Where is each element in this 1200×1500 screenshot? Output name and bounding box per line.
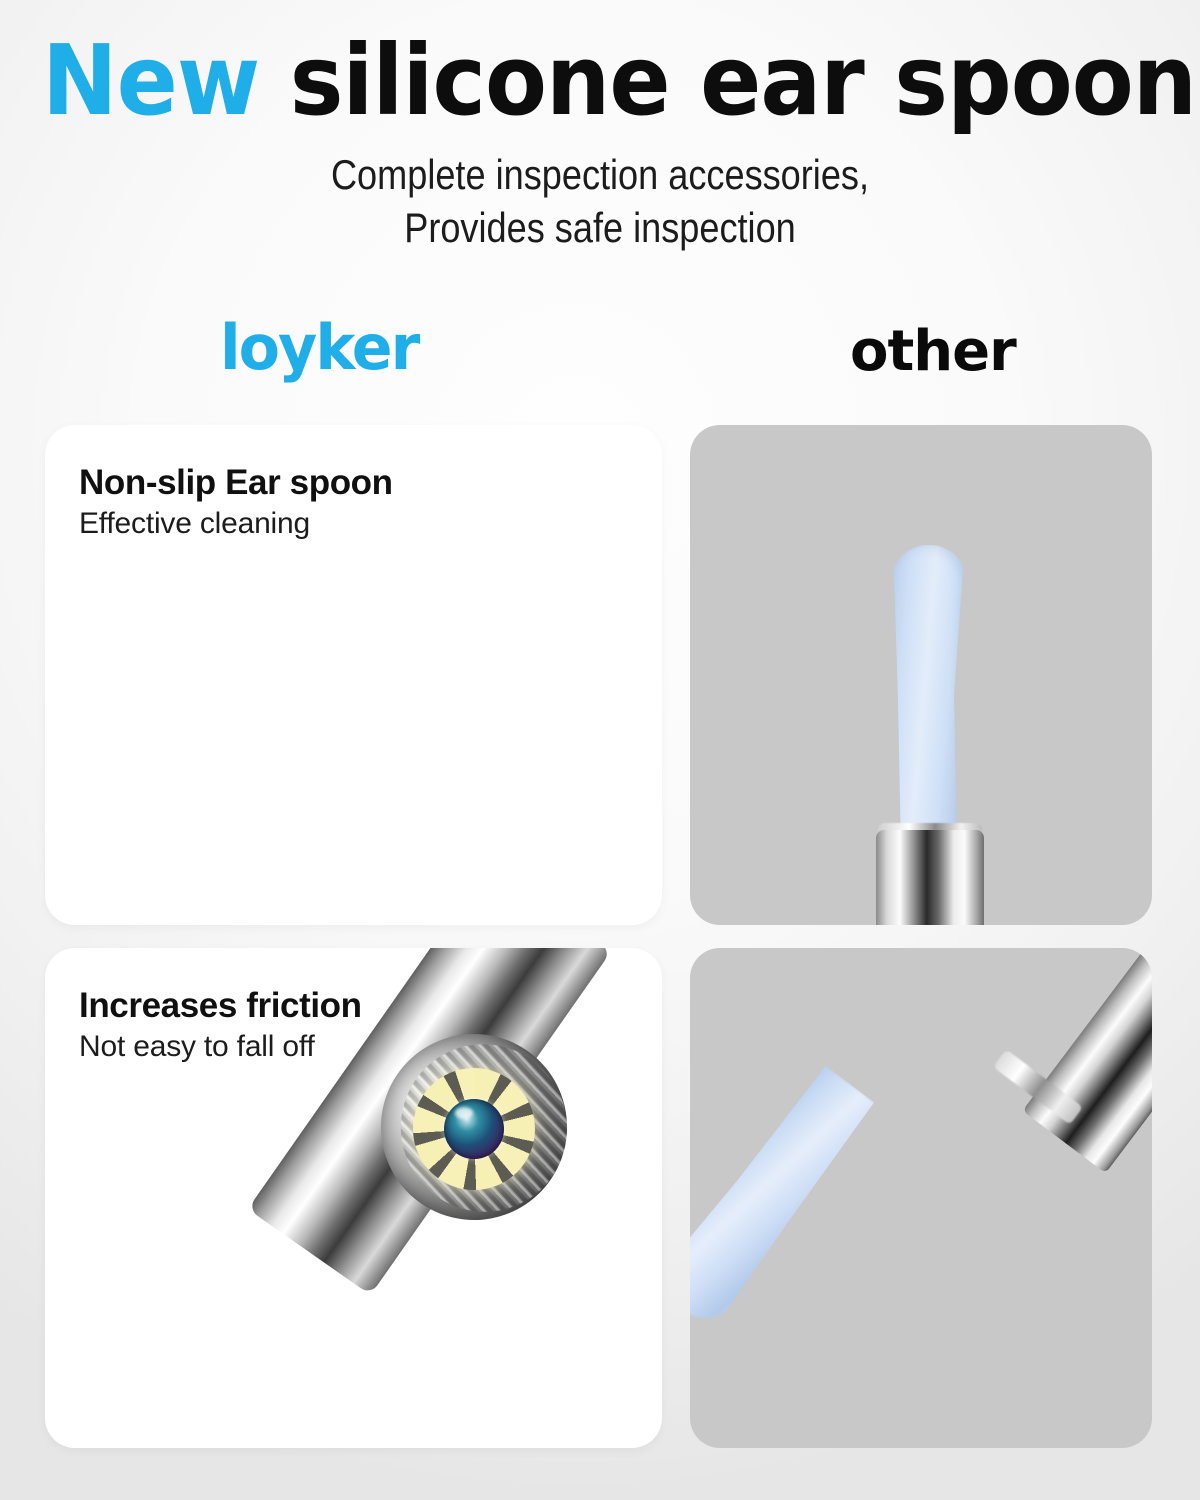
- comparison-label-other: other: [850, 319, 1016, 384]
- card-other-ear-spoon-angled: [690, 948, 1152, 1448]
- card-non-slip-ear-spoon: Non-slip Ear spoon Effective cleaning: [45, 425, 662, 925]
- probe-camera-lens: [444, 1099, 504, 1159]
- card-other-ear-spoon: [690, 425, 1152, 925]
- other-silicone-tip: [690, 1059, 884, 1335]
- other-angled-tip-illustration: [690, 948, 1152, 1448]
- card-subtitle: Not easy to fall off: [79, 1030, 315, 1064]
- card-title: Non-slip Ear spoon: [79, 463, 393, 503]
- card-title: Increases friction: [79, 986, 362, 1026]
- metal-shaft: [1022, 948, 1152, 1173]
- metal-shaft: [876, 830, 984, 925]
- subtitle-line-2: Provides safe inspection: [84, 201, 1116, 254]
- comparison-header-row: loyker other: [45, 305, 1155, 405]
- other-silicone-tip: [890, 545, 968, 845]
- probe-lens-glint: [455, 1107, 473, 1119]
- card-increases-friction: Increases friction Not easy to fall off: [45, 948, 662, 1448]
- card-subtitle: Effective cleaning: [79, 507, 310, 541]
- headline-highlight: New: [42, 24, 259, 137]
- page-headline: New silicone ear spoon: [42, 32, 1158, 129]
- page-subtitle: Complete inspection accessories, Provide…: [84, 148, 1116, 254]
- product-comparison-page: New silicone ear spoon Complete inspecti…: [0, 0, 1200, 1500]
- headline-rest: silicone ear spoon: [259, 24, 1196, 137]
- subtitle-line-1: Complete inspection accessories,: [84, 148, 1116, 201]
- other-tip-illustration: [690, 425, 1152, 925]
- brand-logo-loyker: loyker: [220, 311, 418, 384]
